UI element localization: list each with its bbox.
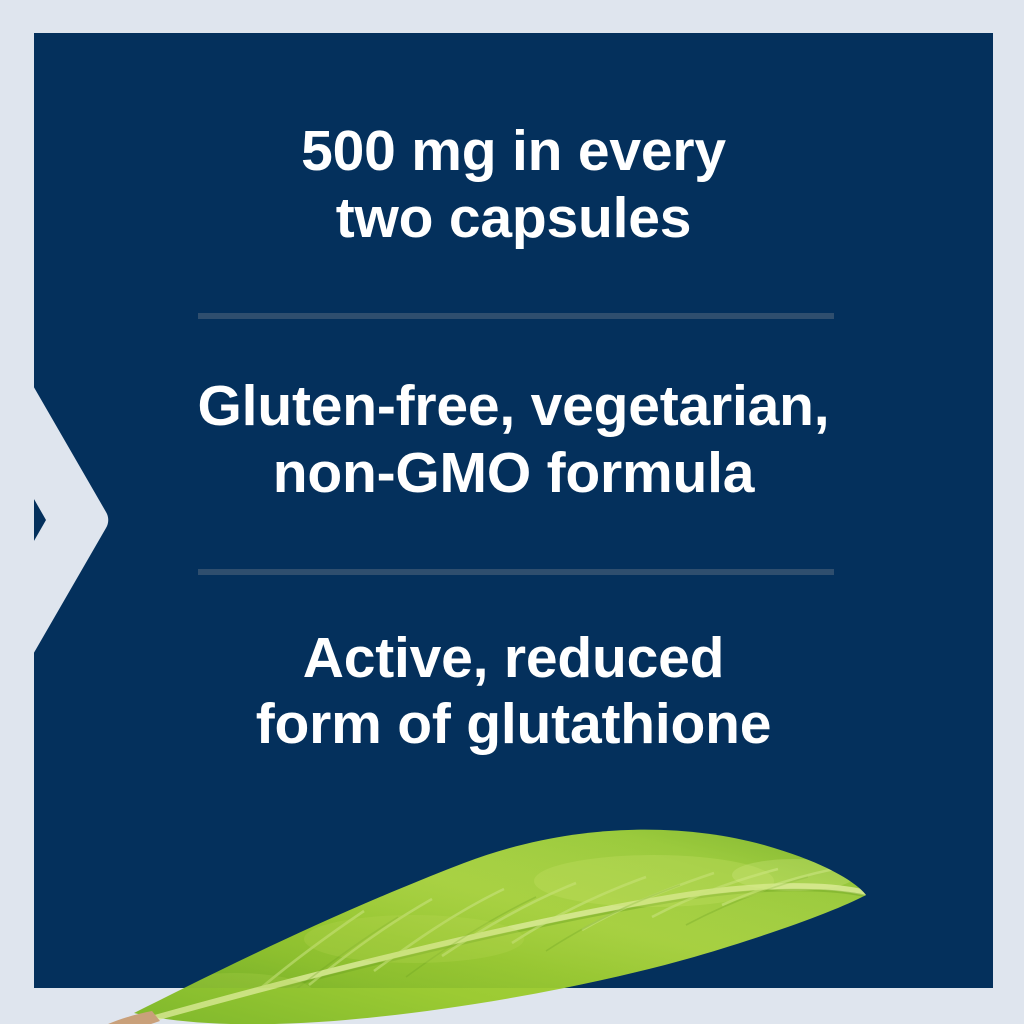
chevron-right-icon bbox=[0, 370, 120, 670]
feature-list: 500 mg in every two capsules Gluten-free… bbox=[34, 33, 993, 988]
feature-item-form: Active, reduced form of glutathione bbox=[64, 625, 964, 758]
feature-divider-1 bbox=[198, 313, 834, 319]
product-feature-infographic: 500 mg in every two capsules Gluten-free… bbox=[0, 0, 1024, 1024]
feature-divider-2 bbox=[198, 569, 834, 575]
leaf-stem bbox=[98, 1011, 160, 1024]
navy-feature-panel: 500 mg in every two capsules Gluten-free… bbox=[34, 33, 993, 988]
feature-item-dosage: 500 mg in every two capsules bbox=[64, 118, 964, 251]
feature-item-dietary: Gluten-free, vegetarian, non-GMO formula bbox=[64, 373, 964, 506]
